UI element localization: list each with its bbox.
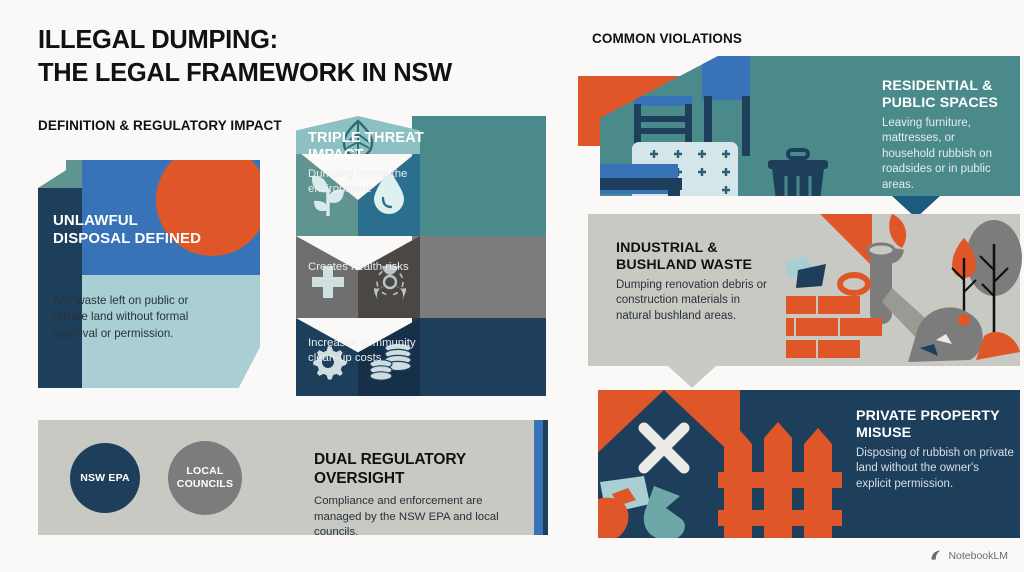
page-title-line-2: THE LEGAL FRAMEWORK IN NSW <box>38 57 558 90</box>
isometric-cube <box>296 236 420 318</box>
nsw-epa-badge: NSW EPA <box>70 443 140 513</box>
row-text-block: Creates health risks <box>308 260 424 275</box>
card-face <box>82 160 260 388</box>
dual-oversight-body: Compliance and enforcement are managed b… <box>314 494 514 541</box>
triple-threat-row: Creates health risks <box>296 236 546 318</box>
row-subtext: Creates health risks <box>308 260 424 275</box>
watermark-label: NotebookLM <box>948 550 1008 562</box>
bricks-pipe-trees-rubble-illustration <box>786 200 1024 366</box>
card-text-block: RESIDENTIAL & PUBLIC SPACES Leaving furn… <box>882 78 1010 193</box>
triple-threat-row: TRIPLE THREAT IMPACT Dumping harms the e… <box>296 116 546 236</box>
card-title: PRIVATE PROPERTY MISUSE <box>856 408 1016 442</box>
card-text-block: INDUSTRIAL & BUSHLAND WASTE Dumping reno… <box>616 240 776 324</box>
card-body: Dumping renovation debris or constructio… <box>616 278 776 325</box>
local-councils-badge: LOCAL COUNCILS <box>168 441 242 515</box>
card-title: INDUSTRIAL & BUSHLAND WASTE <box>616 240 776 274</box>
card-body: Leaving furniture, mattresses, or househ… <box>882 116 1010 194</box>
card-body: Disposing of rubbish on private land wit… <box>856 446 1016 493</box>
card-pointer-tail <box>668 366 716 388</box>
unlawful-disposal-card: UNLAWFUL DISPOSAL DEFINED Any waste left… <box>38 160 260 395</box>
dual-oversight-heading: DUAL REGULATORY OVERSIGHT <box>314 451 529 488</box>
watermark: NotebookLM <box>930 549 1008 562</box>
violation-card-private-property: PRIVATE PROPERTY MISUSE Disposing of rub… <box>598 390 1020 538</box>
cube-left-face <box>296 236 358 318</box>
cube-right-face <box>358 236 420 318</box>
card-title: RESIDENTIAL & PUBLIC SPACES <box>882 78 1010 112</box>
row-subtext: Increases community clean-up costs <box>308 336 424 366</box>
row-text-block: TRIPLE THREAT IMPACT Dumping harms the e… <box>308 130 424 197</box>
row-text-block: Increases community clean-up costs <box>308 336 424 366</box>
definition-body: Any waste left on public or private land… <box>53 293 205 342</box>
definition-heading: UNLAWFUL DISPOSAL DEFINED <box>53 212 203 249</box>
furniture-mattress-bin-illustration <box>600 56 900 196</box>
violation-card-residential: RESIDENTIAL & PUBLIC SPACES Leaving furn… <box>600 56 1020 196</box>
triple-threat-row: Increases community clean-up costs <box>296 318 546 396</box>
notebooklm-logo-icon <box>930 549 943 562</box>
triple-threat-title: TRIPLE THREAT IMPACT <box>308 130 424 164</box>
infographic-canvas: ILLEGAL DUMPING: THE LEGAL FRAMEWORK IN … <box>0 0 1024 572</box>
violation-card-industrial: INDUSTRIAL & BUSHLAND WASTE Dumping reno… <box>588 214 1020 366</box>
accent-stripe-navy <box>543 420 548 535</box>
house-fence-rubbish-bag-illustration <box>598 390 848 538</box>
row-panel <box>412 116 546 236</box>
row-panel <box>412 318 546 396</box>
left-section-label: DEFINITION & REGULATORY IMPACT <box>38 117 298 135</box>
row-subtext: Dumping harms the environment <box>308 167 424 197</box>
page-title: ILLEGAL DUMPING: THE LEGAL FRAMEWORK IN … <box>38 24 558 89</box>
row-panel <box>412 236 546 318</box>
dual-oversight-bar: NSW EPA LOCAL COUNCILS DUAL REGULATORY O… <box>38 420 548 535</box>
card-text-block: PRIVATE PROPERTY MISUSE Disposing of rub… <box>856 408 1016 492</box>
right-section-label: COMMON VIOLATIONS <box>592 30 762 48</box>
page-title-line-1: ILLEGAL DUMPING: <box>38 24 558 57</box>
triple-threat-stack: TRIPLE THREAT IMPACT Dumping harms the e… <box>296 116 546 396</box>
